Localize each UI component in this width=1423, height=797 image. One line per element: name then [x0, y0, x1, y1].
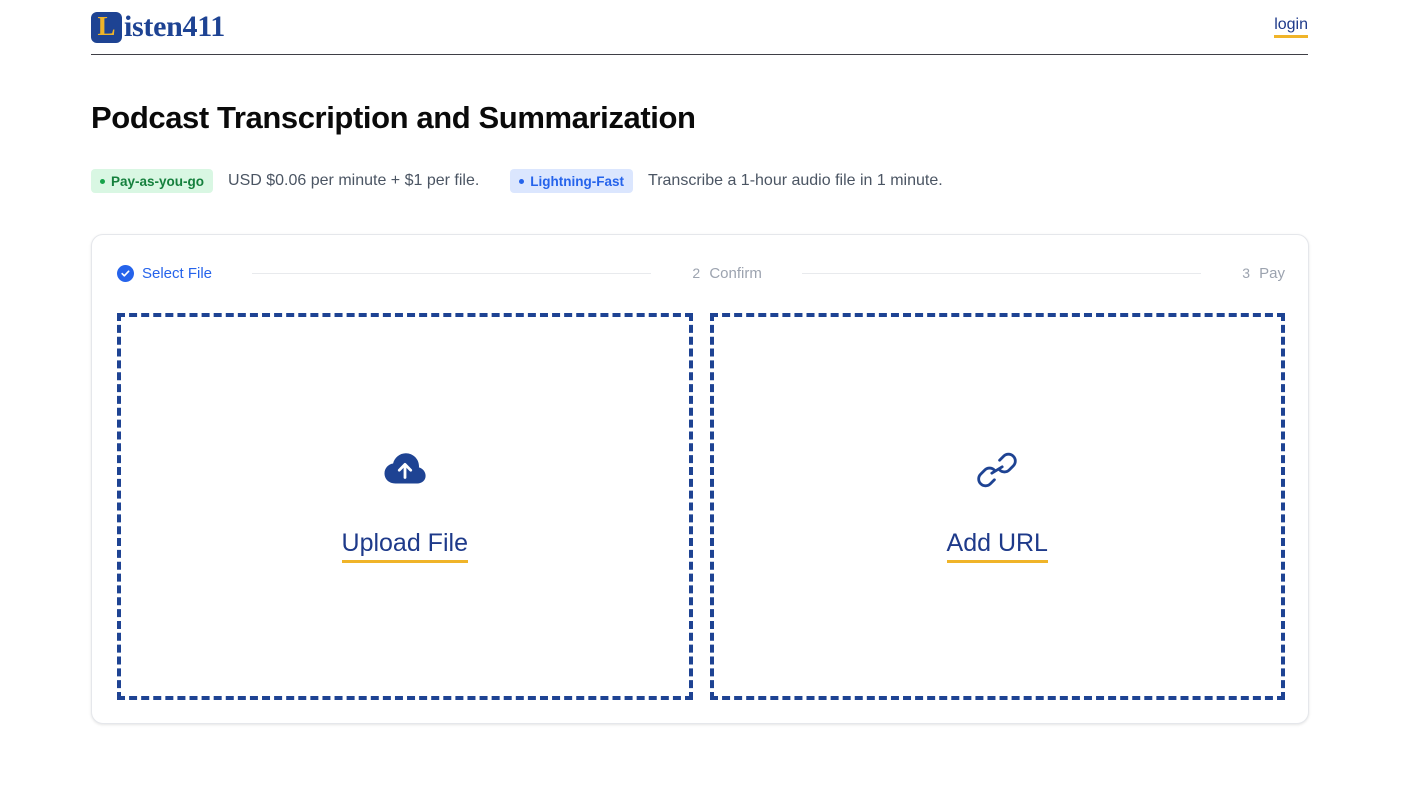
upload-card: Select File 2 Confirm 3 Pay Upload File — [91, 234, 1309, 724]
step-connector — [252, 273, 651, 274]
logo-wordmark: isten411 — [124, 10, 225, 44]
badge-label: Lightning-Fast — [530, 174, 624, 189]
step-label: Select File — [142, 265, 212, 282]
progress-stepper: Select File 2 Confirm 3 Pay — [117, 260, 1285, 286]
step-connector — [802, 273, 1201, 274]
dot-icon — [519, 179, 524, 184]
logo-listen411[interactable]: L isten411 — [91, 10, 225, 44]
cloud-upload-icon — [383, 450, 427, 495]
step-number: 2 — [691, 265, 701, 281]
logo-badge-letter: L — [91, 12, 122, 43]
status-badge-lightning-fast: Lightning-Fast — [510, 169, 633, 193]
step-pay[interactable]: 3 Pay — [1241, 265, 1285, 282]
dot-icon — [100, 179, 105, 184]
status-badge-pay-as-you-go: Pay-as-you-go — [91, 169, 213, 193]
feature-badges: Pay-as-you-go USD $0.06 per minute + $1 … — [91, 169, 943, 193]
badge-label: Pay-as-you-go — [111, 174, 204, 189]
feature-description: Transcribe a 1-hour audio file in 1 minu… — [648, 172, 943, 190]
page-title: Podcast Transcription and Summarization — [91, 100, 696, 136]
site-header: L isten411 login — [91, 0, 1308, 55]
check-circle-icon — [117, 265, 134, 282]
dropzone-label: Upload File — [342, 529, 468, 563]
feature-lightning-fast: Lightning-Fast Transcribe a 1-hour audio… — [510, 169, 942, 193]
source-options: Upload File Add URL — [117, 313, 1285, 700]
step-label: Confirm — [709, 265, 762, 282]
step-label: Pay — [1259, 265, 1285, 282]
dropzone-upload-file[interactable]: Upload File — [117, 313, 693, 700]
link-icon — [975, 450, 1019, 495]
step-select-file[interactable]: Select File — [117, 265, 212, 282]
feature-pay-as-you-go: Pay-as-you-go USD $0.06 per minute + $1 … — [91, 169, 479, 193]
dropzone-label: Add URL — [947, 529, 1048, 563]
feature-description: USD $0.06 per minute + $1 per file. — [228, 172, 479, 190]
dropzone-add-url[interactable]: Add URL — [710, 313, 1286, 700]
step-number: 3 — [1241, 265, 1251, 281]
login-link[interactable]: login — [1274, 16, 1308, 38]
step-confirm[interactable]: 2 Confirm — [691, 265, 762, 282]
